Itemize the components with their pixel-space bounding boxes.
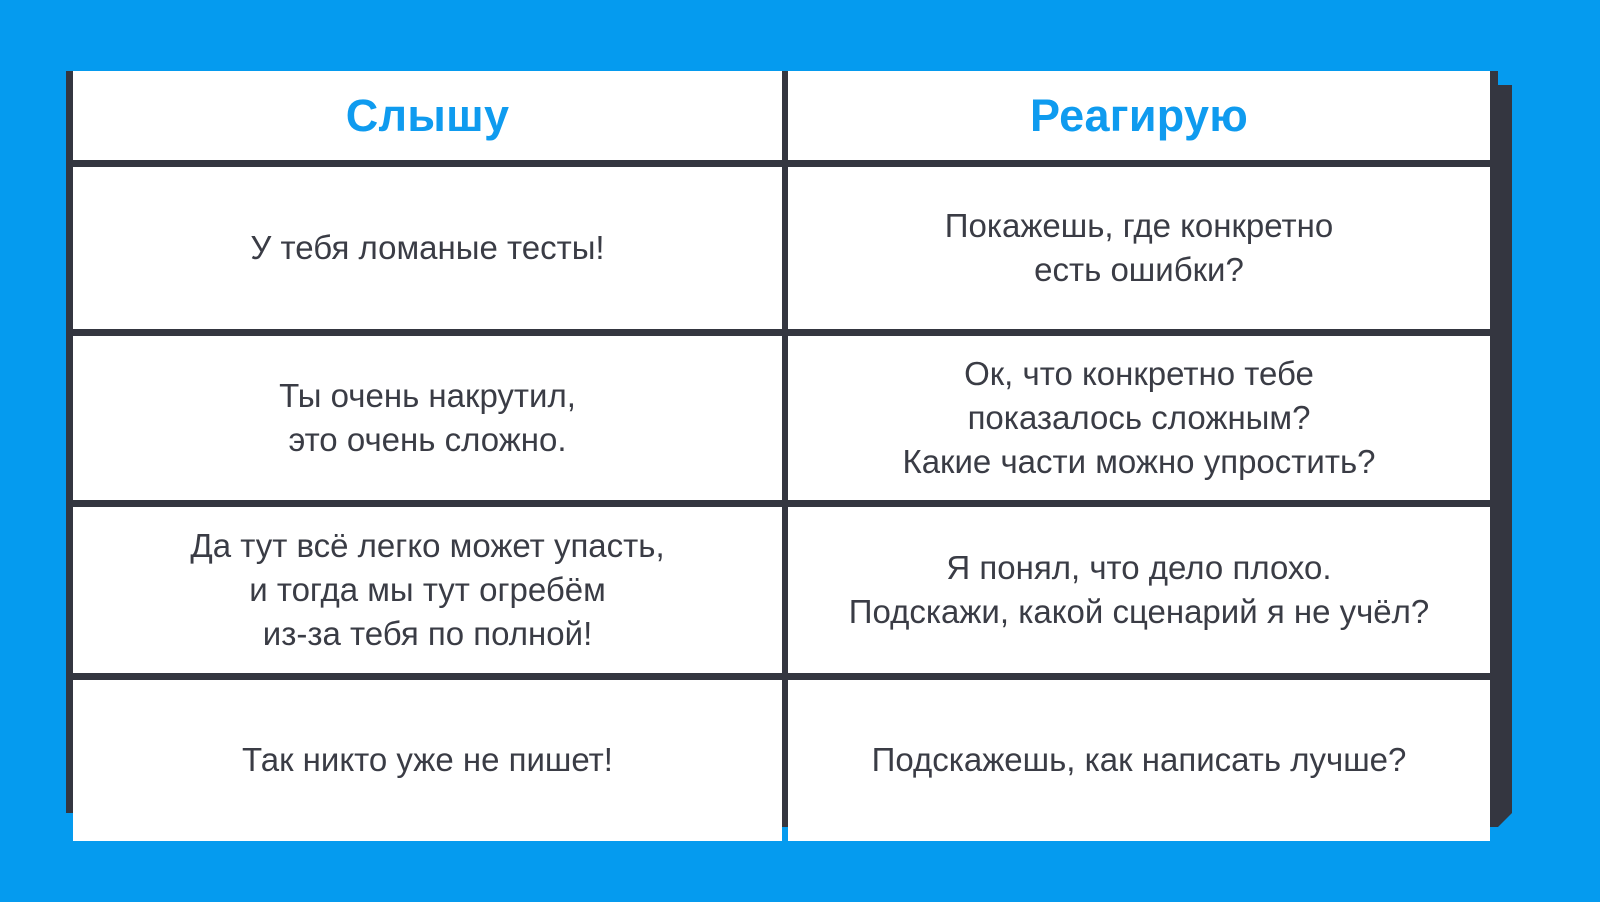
table-row: У тебя ломаные тесты! Покажешь, где конк… bbox=[66, 167, 1498, 329]
table-cell-react-2: Ок, что конкретно тебе показалось сложны… bbox=[788, 336, 1490, 500]
cell-text: Покажешь, где конкретно есть ошибки? bbox=[945, 204, 1333, 292]
table-cell-hear-4: Так никто уже не пишет! bbox=[73, 680, 782, 841]
table-cell-react-3: Я понял, что дело плохо. Подскажи, какой… bbox=[788, 507, 1490, 673]
table-header-cell-right: Реагирую bbox=[788, 71, 1490, 160]
table-row: Ты очень накрутил, это очень сложно. Ок,… bbox=[66, 336, 1498, 500]
table-cell-hear-3: Да тут всё легко может упасть, и тогда м… bbox=[73, 507, 782, 673]
cell-text: Так никто уже не пишет! bbox=[242, 738, 613, 782]
table-header-cell-left: Слышу bbox=[73, 71, 782, 160]
table-cell-hear-1: У тебя ломаные тесты! bbox=[73, 167, 782, 329]
column-header-hear: Слышу bbox=[346, 92, 510, 139]
cell-text: Да тут всё легко может упасть, и тогда м… bbox=[190, 524, 664, 657]
table-header-row: Слышу Реагирую bbox=[66, 71, 1498, 160]
table-row: Так никто уже не пишет! Подскажешь, как … bbox=[66, 680, 1498, 841]
cell-text: Подскажешь, как написать лучше? bbox=[872, 738, 1407, 782]
comparison-table: Слышу Реагирую У тебя ломаные тесты! Пок… bbox=[66, 71, 1498, 813]
slide-canvas: Слышу Реагирую У тебя ломаные тесты! Пок… bbox=[0, 0, 1600, 902]
cell-text: Я понял, что дело плохо. Подскажи, какой… bbox=[849, 546, 1430, 634]
table-row: Да тут всё легко может упасть, и тогда м… bbox=[66, 507, 1498, 673]
column-header-react: Реагирую bbox=[1030, 92, 1248, 139]
cell-text: Ок, что конкретно тебе показалось сложны… bbox=[902, 352, 1375, 485]
table-cell-hear-2: Ты очень накрутил, это очень сложно. bbox=[73, 336, 782, 500]
table-cell-react-4: Подскажешь, как написать лучше? bbox=[788, 680, 1490, 841]
cell-text: У тебя ломаные тесты! bbox=[250, 226, 604, 270]
table-cell-react-1: Покажешь, где конкретно есть ошибки? bbox=[788, 167, 1490, 329]
cell-text: Ты очень накрутил, это очень сложно. bbox=[279, 374, 576, 462]
